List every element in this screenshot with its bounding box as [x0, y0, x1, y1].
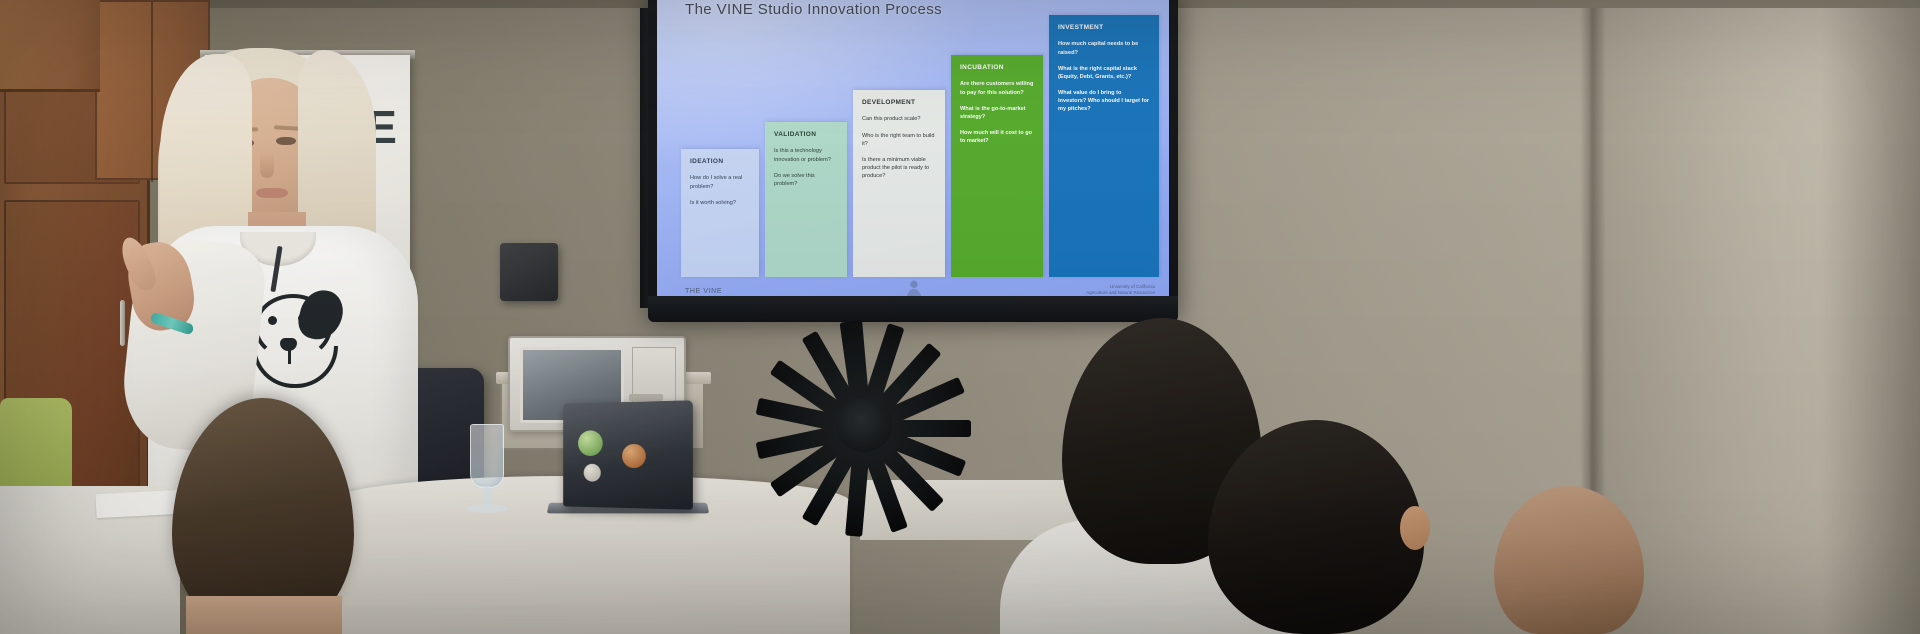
process-card-incubation: INCUBATION Are there customers willing t…: [951, 55, 1043, 277]
card-question: Is this a technology innovation or probl…: [774, 147, 839, 163]
card-title: DEVELOPMENT: [862, 99, 937, 106]
process-card-development: DEVELOPMENT Can this product scale? Who …: [853, 90, 945, 277]
potted-plant: [748, 300, 978, 540]
process-card-ideation: IDEATION How do I solve a real problem? …: [681, 149, 759, 277]
card-question: Do we solve this problem?: [774, 172, 839, 188]
attendee-ear: [1400, 506, 1430, 550]
dog-smile-icon: [252, 346, 338, 388]
card-question: Who is the right team to build it?: [862, 132, 937, 148]
process-staircase: IDEATION How do I solve a real problem? …: [681, 0, 1163, 277]
card-question: How much will it cost to go to market?: [960, 129, 1035, 145]
laptop-sticker: [578, 430, 603, 456]
presenter-nose: [260, 152, 274, 178]
laptop-sticker: [584, 464, 601, 482]
presenter-mouth: [256, 188, 288, 198]
process-card-investment: INVESTMENT How much capital needs to be …: [1049, 15, 1159, 277]
photo-scene: VINE INNOVATION The VINE Studio Innovati…: [0, 0, 1920, 634]
glass-foot: [466, 504, 508, 513]
card-question: What is the go-to-market strategy?: [960, 105, 1035, 121]
slide-footer-logo: THE VINE: [685, 288, 722, 295]
card-title: IDEATION: [690, 158, 751, 165]
card-question: How do I solve a real problem?: [690, 174, 751, 190]
laptop-sticker: [622, 444, 646, 468]
plant-center: [836, 398, 892, 452]
card-question: Is it worth solving?: [690, 199, 751, 207]
card-question: Is there a minimum viable product the pi…: [862, 156, 937, 180]
card-question: Can this product scale?: [862, 115, 937, 123]
card-title: INCUBATION: [960, 64, 1035, 71]
dog-eye-right-icon: [298, 314, 307, 323]
wall-display: The VINE Studio Innovation Process IDEAT…: [648, 0, 1178, 314]
process-card-validation: VALIDATION Is this a technology innovati…: [765, 122, 847, 277]
laptop: [563, 400, 693, 509]
card-title: INVESTMENT: [1058, 24, 1151, 31]
paper-sheet: [95, 490, 180, 518]
card-question: How much capital needs to be raised?: [1058, 40, 1151, 56]
presentation-slide: The VINE Studio Innovation Process IDEAT…: [657, 0, 1169, 305]
water-glass: [470, 424, 504, 488]
presenter-eye-right: [276, 137, 296, 145]
dog-eye-left-icon: [268, 316, 277, 325]
slide-footer-attribution: University of California Agriculture and…: [1086, 284, 1155, 296]
card-question: What value do I bring to investors? Who …: [1058, 89, 1151, 113]
card-title: VALIDATION: [774, 131, 839, 138]
card-question: Are there customers willing to pay for t…: [960, 80, 1035, 96]
card-question: What is the right capital stack (Equity,…: [1058, 65, 1151, 81]
microwave-button: [629, 394, 663, 401]
wall-speaker: [500, 243, 558, 301]
wall-right-panel: [1590, 0, 1920, 634]
wood-cabinet-upper-small: [0, 0, 100, 92]
attendee-neck: [186, 596, 342, 634]
